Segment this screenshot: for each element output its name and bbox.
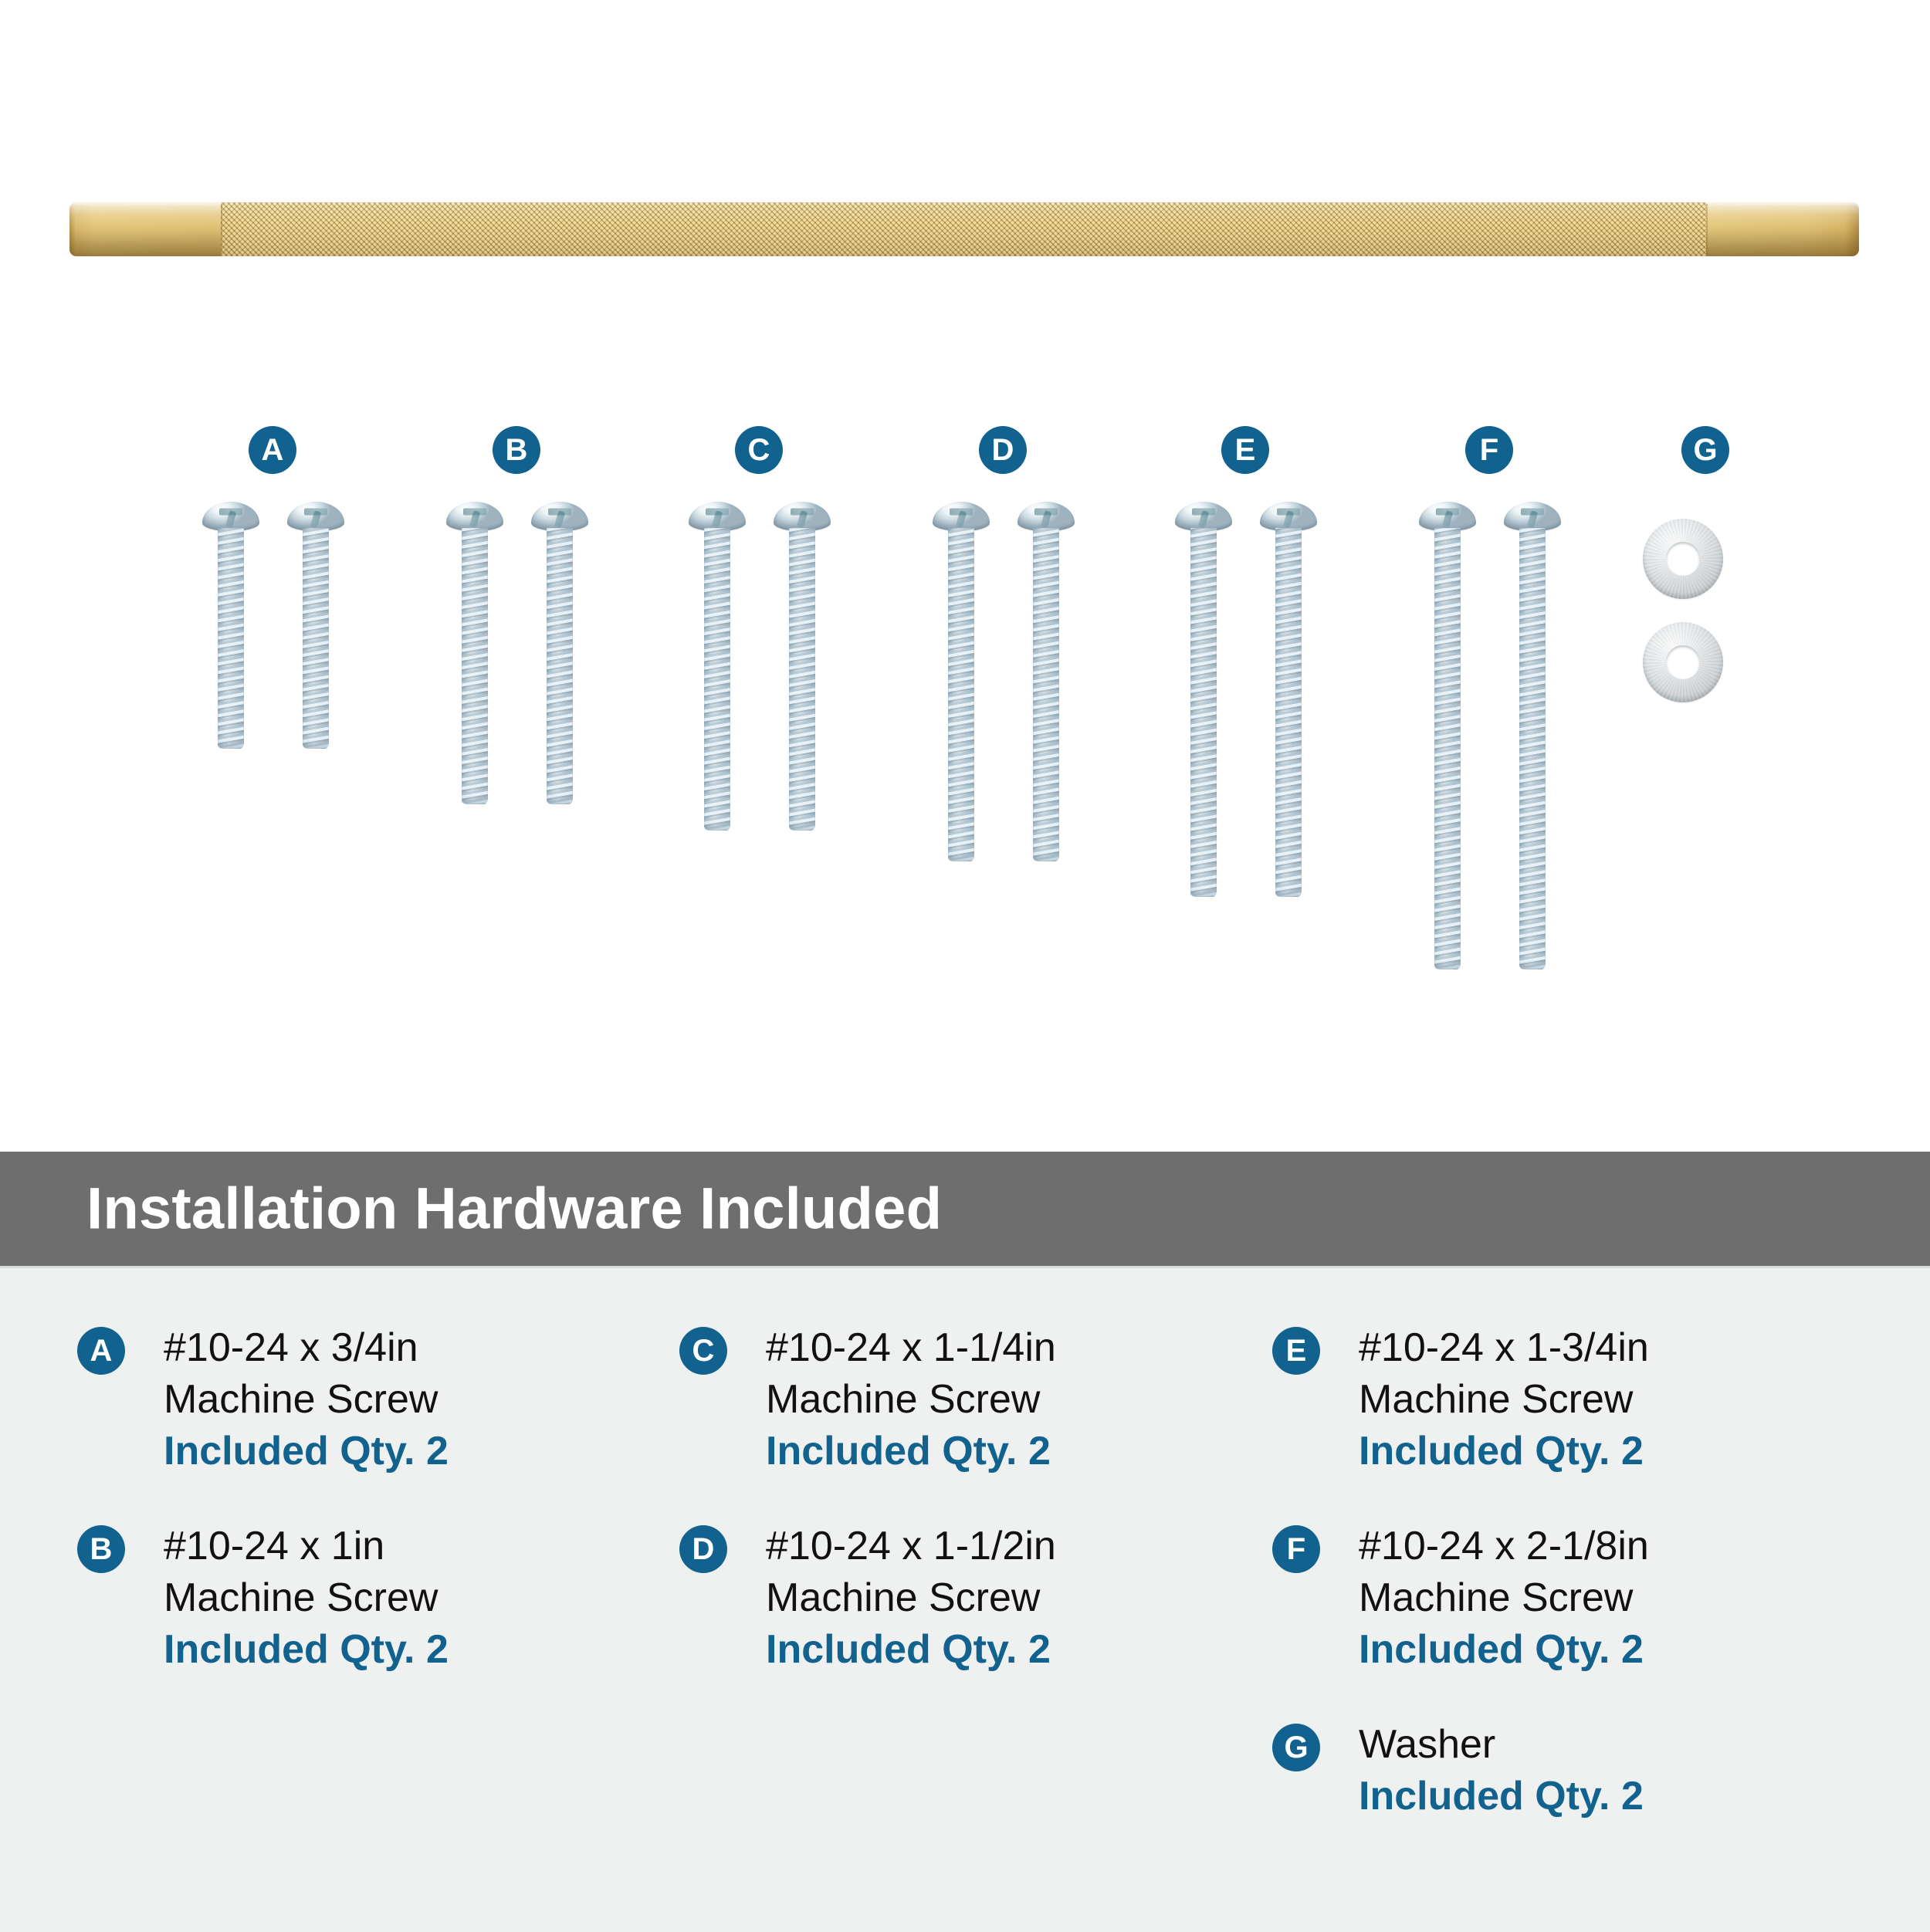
legend-spec-text: #10-24 x 1-1/2in xyxy=(766,1521,1266,1572)
phillips-recess-icon xyxy=(554,510,566,529)
legend-item-d: D#10-24 x 1-1/2inMachine ScrewIncluded Q… xyxy=(679,1521,1266,1676)
legend-type-text: Machine Screw xyxy=(766,1374,1266,1426)
screw-threaded-shaft xyxy=(218,528,244,749)
legend-badge-d: D xyxy=(679,1525,727,1573)
diagram-badge-g: G xyxy=(1681,426,1729,474)
screw-d-2 xyxy=(1017,502,1075,861)
washer-texture xyxy=(1643,622,1723,702)
screw-threaded-shaft xyxy=(1190,528,1217,897)
phillips-recess-icon xyxy=(1527,510,1539,529)
screw-c-2 xyxy=(774,502,831,831)
legend-item-g: GWasherIncluded Qty. 2 xyxy=(1272,1719,1859,1822)
screw-threaded-shaft xyxy=(303,528,329,749)
diagram-badge-b: B xyxy=(493,426,540,474)
screw-head-icon xyxy=(1260,502,1317,531)
screw-threaded-shaft xyxy=(547,528,573,804)
installation-hardware-banner: Installation Hardware Included xyxy=(0,1152,1930,1266)
bar-pull-knurled-section xyxy=(221,202,1706,256)
legend-quantity-text: Included Qty. 2 xyxy=(164,1426,664,1477)
screw-head-icon xyxy=(1419,502,1476,531)
bar-pull-product-image xyxy=(69,202,1859,256)
legend-quantity-text: Included Qty. 2 xyxy=(164,1624,664,1676)
legend-spec-text: #10-24 x 2-1/8in xyxy=(1359,1521,1859,1572)
screw-head-icon xyxy=(446,502,503,531)
phillips-recess-icon xyxy=(797,510,808,529)
phillips-recess-icon xyxy=(1442,510,1454,529)
legend-column-3: E#10-24 x 1-3/4inMachine ScrewIncluded Q… xyxy=(1272,1268,1859,1866)
banner-title: Installation Hardware Included xyxy=(86,1176,942,1243)
legend-item-a: A#10-24 x 3/4inMachine ScrewIncluded Qty… xyxy=(77,1322,664,1477)
legend-quantity-text: Included Qty. 2 xyxy=(766,1624,1266,1676)
screw-head-icon xyxy=(933,502,990,531)
legend-badge-f: F xyxy=(1272,1525,1320,1573)
legend-column-1: A#10-24 x 3/4inMachine ScrewIncluded Qty… xyxy=(77,1268,664,1719)
legend-badge-c: C xyxy=(679,1327,727,1375)
screw-threaded-shaft xyxy=(1434,528,1461,969)
diagram-badge-f: F xyxy=(1465,426,1513,474)
screw-head-icon xyxy=(531,502,588,531)
legend-badge-g: G xyxy=(1272,1724,1320,1771)
phillips-recess-icon xyxy=(712,510,723,529)
legend-item-c: C#10-24 x 1-1/4inMachine ScrewIncluded Q… xyxy=(679,1322,1266,1477)
screw-threaded-shaft xyxy=(1519,528,1546,969)
bar-pull-left-seam xyxy=(221,204,222,255)
screw-threaded-shaft xyxy=(704,528,730,831)
phillips-recess-icon xyxy=(469,510,481,529)
screw-threaded-shaft xyxy=(948,528,974,861)
screw-b-2 xyxy=(531,502,588,804)
phillips-recess-icon xyxy=(1283,510,1295,529)
screw-threaded-shaft xyxy=(1275,528,1302,897)
legend-item-f: F#10-24 x 2-1/8inMachine ScrewIncluded Q… xyxy=(1272,1521,1859,1676)
legend-type-text: Machine Screw xyxy=(164,1572,664,1624)
diagram-badge-c: C xyxy=(735,426,783,474)
screw-f-1 xyxy=(1419,502,1476,969)
product-illustration-area: ABCDEFG xyxy=(0,0,1930,1150)
screw-threaded-shaft xyxy=(462,528,488,804)
hardware-legend-panel: A#10-24 x 3/4inMachine ScrewIncluded Qty… xyxy=(0,1266,1930,1932)
screw-head-icon xyxy=(689,502,746,531)
washer-g-1 xyxy=(1643,519,1723,599)
phillips-recess-icon xyxy=(956,510,967,529)
screw-e-1 xyxy=(1175,502,1232,897)
legend-badge-b: B xyxy=(77,1525,125,1573)
legend-spec-text: #10-24 x 1in xyxy=(164,1521,664,1572)
screw-head-icon xyxy=(1017,502,1075,531)
screw-threaded-shaft xyxy=(789,528,815,831)
diagram-badge-a: A xyxy=(249,426,296,474)
diagram-badge-e: E xyxy=(1221,426,1269,474)
legend-quantity-text: Included Qty. 2 xyxy=(1359,1624,1859,1676)
screw-e-2 xyxy=(1260,502,1317,897)
legend-type-text: Machine Screw xyxy=(766,1572,1266,1624)
bar-pull-left-cap xyxy=(69,202,221,256)
legend-quantity-text: Included Qty. 2 xyxy=(766,1426,1266,1477)
legend-quantity-text: Included Qty. 2 xyxy=(1359,1771,1859,1822)
washer-g-2 xyxy=(1643,622,1723,702)
phillips-recess-icon xyxy=(1198,510,1210,529)
bar-pull-right-seam xyxy=(1706,204,1708,255)
legend-type-text: Machine Screw xyxy=(1359,1572,1859,1624)
legend-item-b: B#10-24 x 1inMachine ScrewIncluded Qty. … xyxy=(77,1521,664,1676)
screw-a-2 xyxy=(287,502,344,749)
legend-spec-text: #10-24 x 1-3/4in xyxy=(1359,1322,1859,1374)
screw-f-2 xyxy=(1504,502,1561,969)
legend-spec-text: #10-24 x 1-1/4in xyxy=(766,1322,1266,1374)
screw-head-icon xyxy=(287,502,344,531)
legend-badge-a: A xyxy=(77,1327,125,1375)
bar-pull-right-cap xyxy=(1706,202,1859,256)
legend-type-text: Machine Screw xyxy=(1359,1374,1859,1426)
diagram-badge-d: D xyxy=(979,426,1027,474)
legend-item-e: E#10-24 x 1-3/4inMachine ScrewIncluded Q… xyxy=(1272,1322,1859,1477)
screw-head-icon xyxy=(1504,502,1561,531)
phillips-recess-icon xyxy=(310,510,322,529)
screw-d-1 xyxy=(933,502,990,861)
screw-head-icon xyxy=(202,502,259,531)
legend-spec-text: Washer xyxy=(1359,1719,1859,1771)
legend-type-text: Machine Screw xyxy=(164,1374,664,1426)
phillips-recess-icon xyxy=(1041,510,1052,529)
screw-head-icon xyxy=(1175,502,1232,531)
screw-threaded-shaft xyxy=(1033,528,1059,861)
washer-texture xyxy=(1643,519,1723,599)
screw-c-1 xyxy=(689,502,746,831)
legend-column-2: C#10-24 x 1-1/4inMachine ScrewIncluded Q… xyxy=(679,1268,1266,1719)
legend-spec-text: #10-24 x 3/4in xyxy=(164,1322,664,1374)
phillips-recess-icon xyxy=(225,510,237,529)
legend-quantity-text: Included Qty. 2 xyxy=(1359,1426,1859,1477)
screw-a-1 xyxy=(202,502,259,749)
screw-head-icon xyxy=(774,502,831,531)
legend-badge-e: E xyxy=(1272,1327,1320,1375)
screw-b-1 xyxy=(446,502,503,804)
